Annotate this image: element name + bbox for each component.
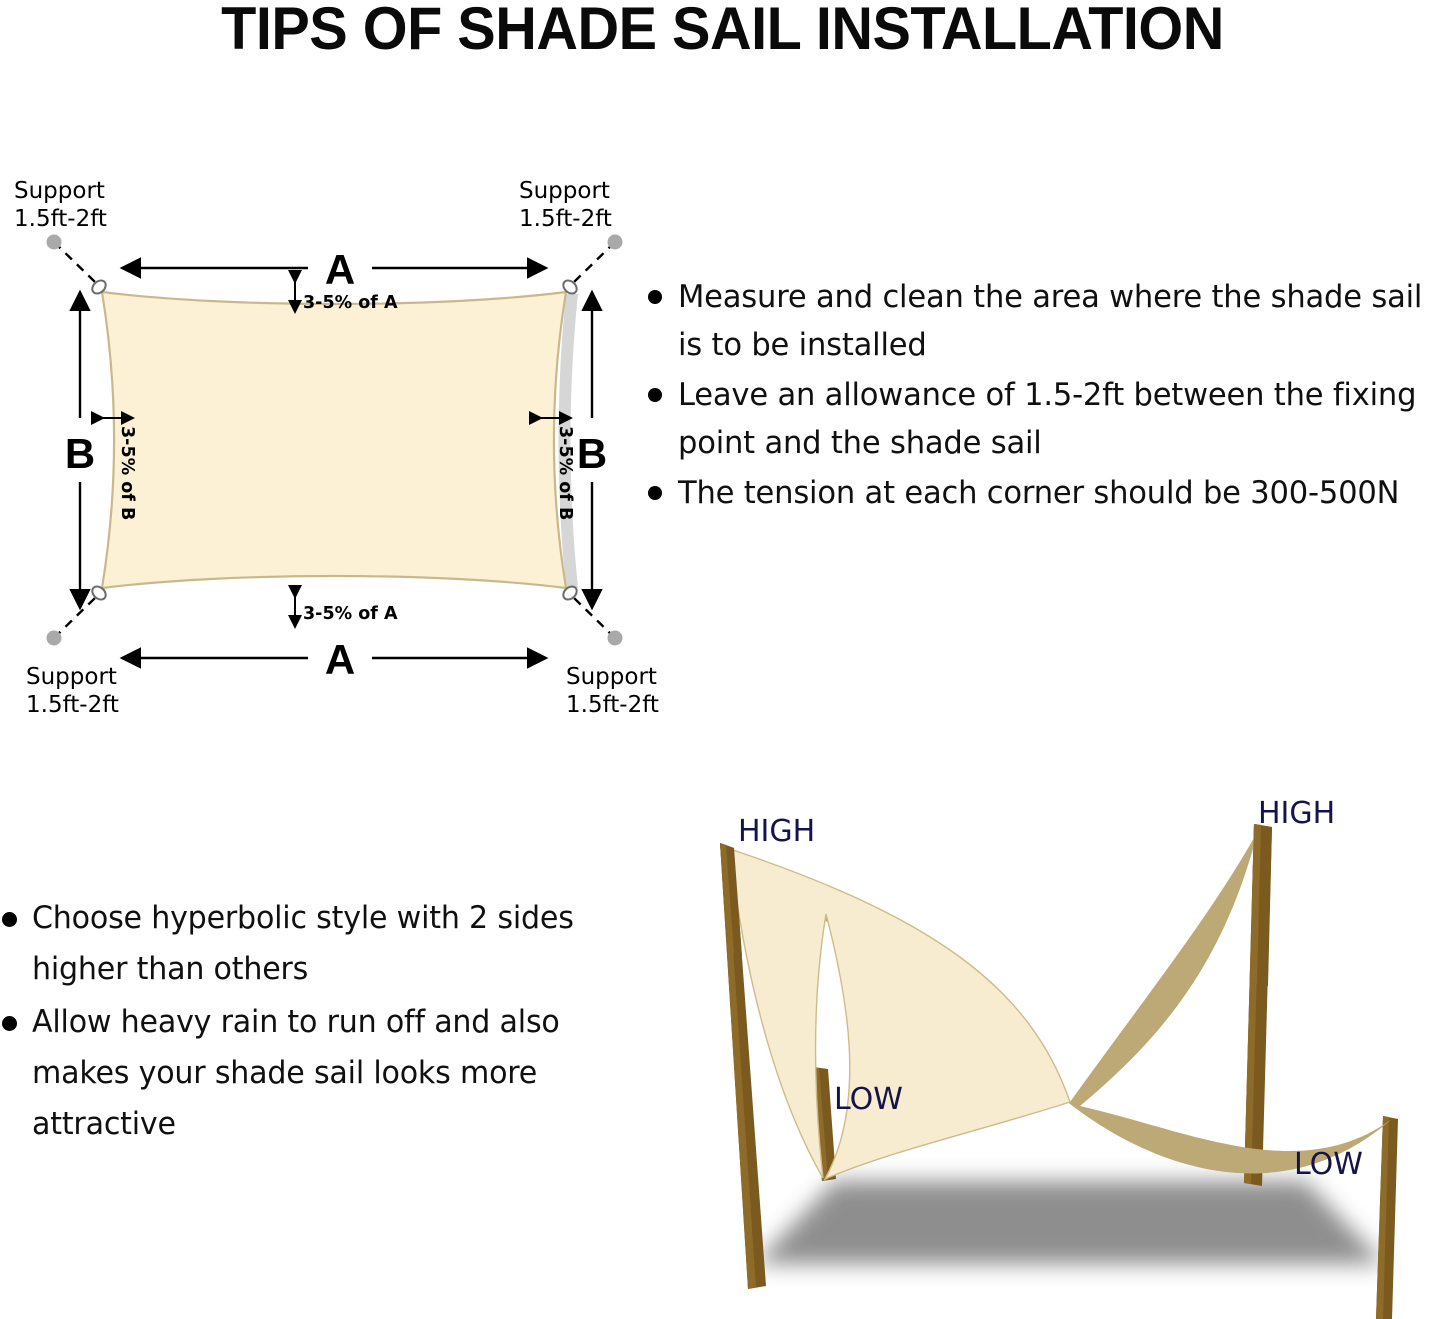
bullet-dot-icon [648,388,662,402]
installation-tips-list-bottom: Choose hyperbolic style with 2 sides hig… [2,893,627,1152]
curvature-b-left: 3-5% of B [103,418,137,520]
label-high-right: HIGH [1258,796,1335,831]
label-low-left: LOW [834,1082,903,1117]
support-dot [608,235,623,250]
svg-text:Support: Support [519,178,610,204]
page-title: TIPS OF SHADE SAIL INSTALLATION [29,0,1416,60]
sail-half-light [730,849,1070,1179]
support-label-top-left: Support 1.5ft-2ft [14,178,107,232]
post-high-right-tip [1250,824,1272,986]
list-item-label: Leave an allowance of 1.5-2ft between th… [678,371,1425,467]
svg-text:Support: Support [566,664,657,690]
svg-text:1.5ft-2ft: 1.5ft-2ft [14,206,107,232]
post-low-right [1376,1116,1398,1319]
curvature-b-right-label: 3-5% of B [555,426,575,520]
list-item-label: Measure and clean the area where the sha… [678,273,1425,369]
dimension-b-right: B [577,292,607,608]
support-connector-bottom-left [47,598,96,646]
svg-text:Support: Support [26,664,117,690]
ground-shadow [755,1181,1385,1264]
dimension-b-left: B [65,292,95,608]
support-label-top-right: Support 1.5ft-2ft [519,178,612,232]
support-dot [608,631,623,646]
bullet-dot-icon [2,912,17,927]
svg-text:1.5ft-2ft: 1.5ft-2ft [566,692,659,718]
dimension-a-bottom: A [122,636,546,683]
dimension-a-top: A [122,246,546,293]
support-connector-bottom-right [574,598,623,646]
dimension-b-left-label: B [65,430,95,477]
label-low-right: LOW [1294,1147,1363,1182]
rectangular-shade-sail-measurement-diagram: A 3-5% of A A 3-5% of A B 3-5% of B [0,160,680,735]
curvature-b-left-label: 3-5% of B [117,426,137,520]
curvature-a-bottom-label: 3-5% of A [303,604,398,624]
list-item: Leave an allowance of 1.5-2ft between th… [648,371,1445,467]
bullet-dot-icon [648,290,662,304]
bullet-dot-icon [2,1016,17,1031]
bullet-dot-icon [648,486,662,500]
dimension-a-bottom-label: A [325,636,355,683]
hyperbolic-shade-sail-illustration: HIGH HIGH LOW LOW [650,786,1445,1319]
support-label-bottom-left: Support 1.5ft-2ft [26,664,119,718]
svg-text:1.5ft-2ft: 1.5ft-2ft [26,692,119,718]
support-dot [47,235,62,250]
list-item: Allow heavy rain to run off and also mak… [2,997,627,1150]
curvature-a-top-label: 3-5% of A [303,293,398,313]
list-item-label: Allow heavy rain to run off and also mak… [32,997,609,1150]
svg-text:Support: Support [14,178,105,204]
list-item: Choose hyperbolic style with 2 sides hig… [2,893,627,995]
dimension-a-label: A [325,246,355,293]
list-item-label: Choose hyperbolic style with 2 sides hig… [32,893,609,995]
svg-text:1.5ft-2ft: 1.5ft-2ft [519,206,612,232]
support-connector-top-left [47,235,96,283]
dimension-b-right-label: B [577,430,607,477]
support-label-bottom-right: Support 1.5ft-2ft [566,664,659,718]
support-connector-top-right [574,235,623,283]
list-item-label: The tension at each corner should be 300… [678,469,1399,517]
support-dot [47,631,62,646]
list-item: The tension at each corner should be 300… [648,469,1445,517]
list-item: Measure and clean the area where the sha… [648,273,1445,369]
curvature-a-bottom: 3-5% of A [295,597,398,627]
sail-shape [102,292,566,588]
installation-tips-list-top: Measure and clean the area where the sha… [648,273,1445,519]
label-high-left: HIGH [738,814,815,849]
